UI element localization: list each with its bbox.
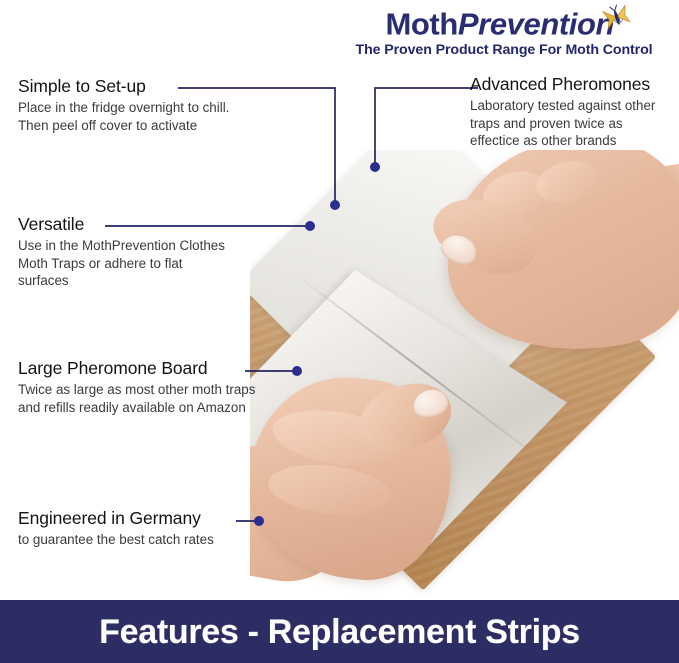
product-photo-hands-peeling-strip [250,150,679,605]
callout-advanced-pheromones: Advanced Pheromones Laboratory tested ag… [470,74,670,150]
infographic-page: MothPrevention® The Proven Product Range… [0,0,679,663]
callout-body: Laboratory tested against other traps an… [470,97,670,150]
callout-title: Large Pheromone Board [18,358,263,379]
callout-large-pheromone-board: Large Pheromone Board Twice as large as … [18,358,263,416]
callout-engineered-in-germany: Engineered in Germany to guarantee the b… [18,508,253,549]
callout-body: Place in the fridge overnight to chill. … [18,99,233,134]
logo-wordmark: MothPrevention® [330,2,678,41]
bottom-banner: Features - Replacement Strips [0,600,679,663]
callout-body: to guarantee the best catch rates [18,531,253,549]
banner-title: Features - Replacement Strips [99,613,580,651]
brand-logo: MothPrevention® The Proven Product Range… [330,2,678,58]
registered-trademark-icon: ® [614,12,622,26]
callout-title: Simple to Set-up [18,76,233,97]
callout-versatile: Versatile Use in the MothPrevention Clot… [18,214,228,290]
logo-brand-moth: Moth [385,6,457,41]
callout-title: Advanced Pheromones [470,74,670,95]
callout-title: Versatile [18,214,228,235]
callout-body: Twice as large as most other moth traps … [18,381,263,416]
logo-brand-prevention: Prevention [458,6,614,41]
logo-tagline: The Proven Product Range For Moth Contro… [330,42,678,59]
callout-title: Engineered in Germany [18,508,253,529]
callout-body: Use in the MothPrevention Clothes Moth T… [18,237,228,290]
callout-simple-to-set-up: Simple to Set-up Place in the fridge ove… [18,76,233,134]
